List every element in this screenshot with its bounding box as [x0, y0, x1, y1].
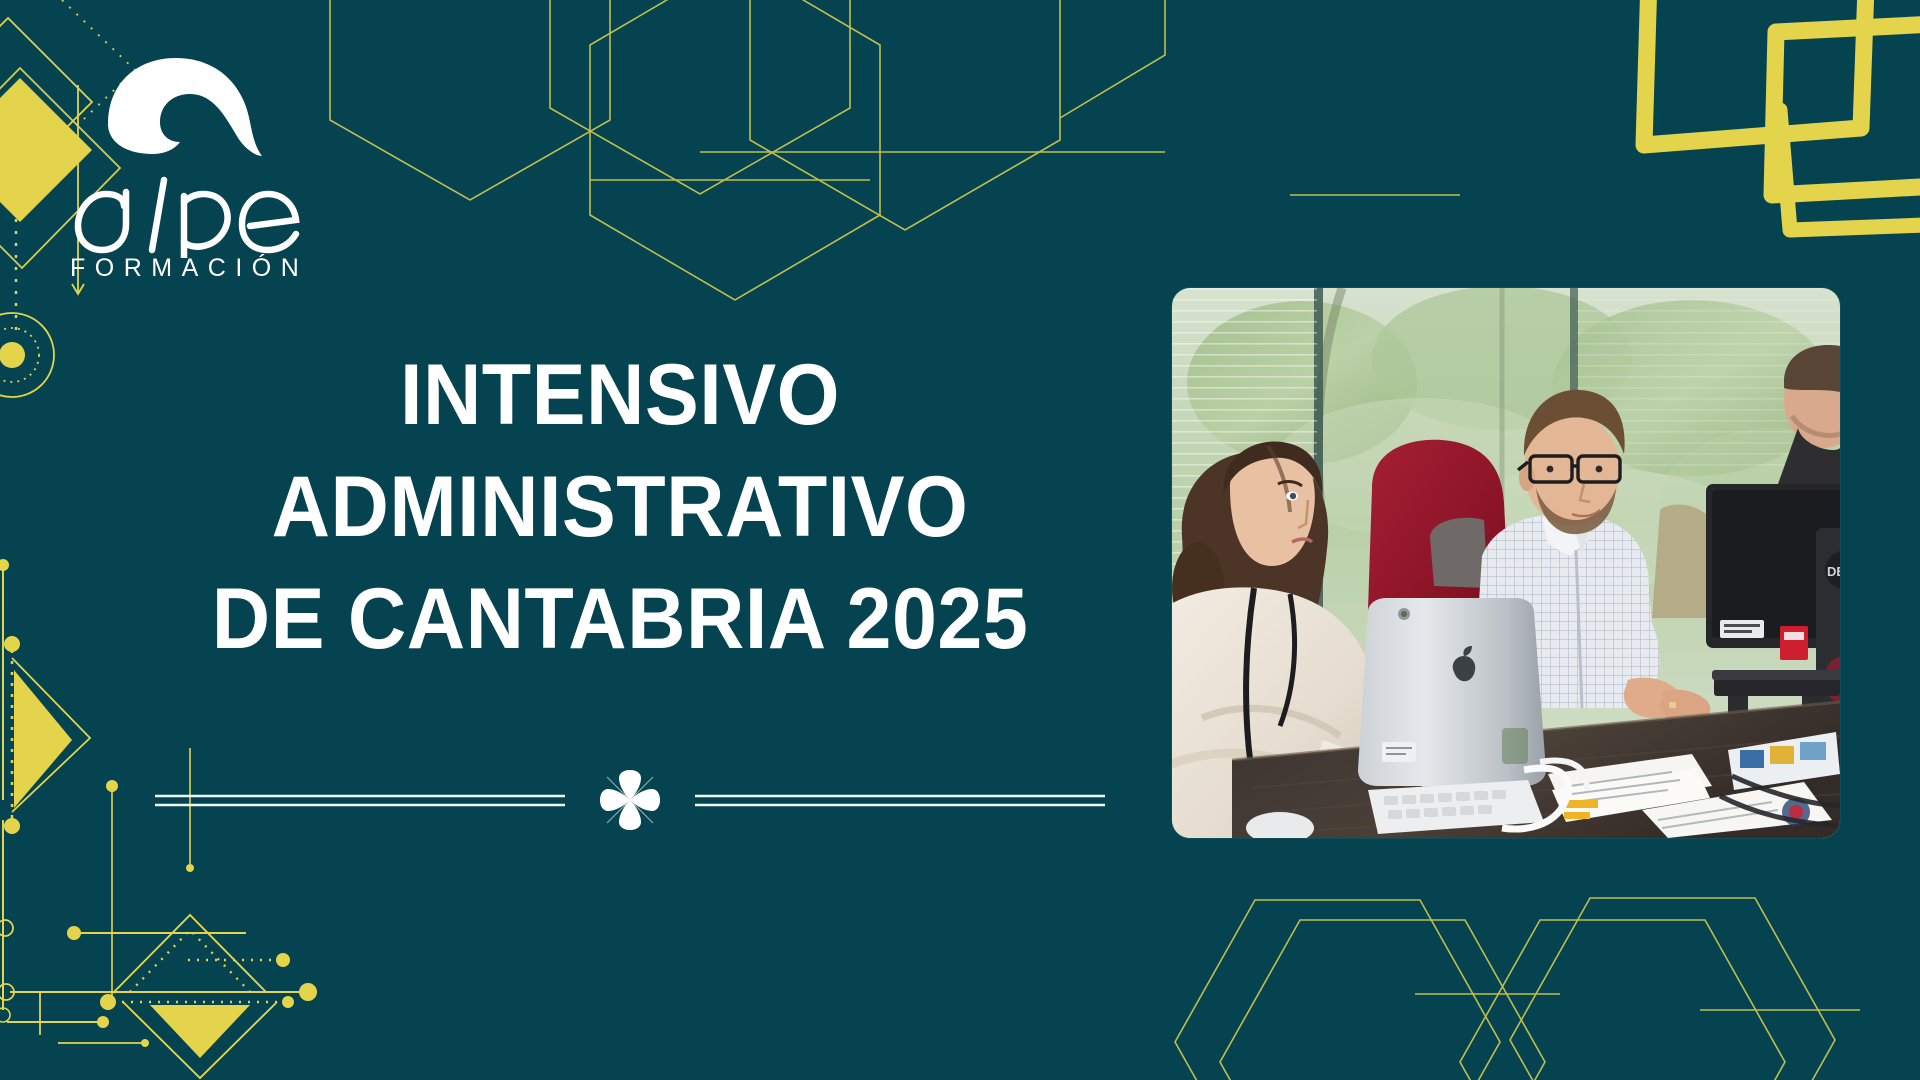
title-line-3: DE CANTABRIA 2025 [150, 564, 1090, 676]
wave-swoosh-mark [86, 52, 286, 172]
alpe-wordmark [64, 172, 314, 258]
classroom-photo: DELL [1172, 288, 1840, 838]
logo-tagline: FORMACIÓN [70, 254, 344, 283]
title-line-2: ADMINISTRATIVO [150, 452, 1090, 564]
alpe-formacion-logo: FORMACIÓN [64, 52, 344, 283]
title-line-1: INTENSIVO [150, 340, 1090, 452]
divider-ornament [155, 770, 1105, 830]
svg-text:DELL: DELL [1827, 564, 1840, 579]
promotional-banner: FORMACIÓN INTENSIVO ADMINISTRATIVO DE CA… [0, 0, 1920, 1080]
page-title: INTENSIVO ADMINISTRATIVO DE CANTABRIA 20… [120, 340, 1120, 675]
